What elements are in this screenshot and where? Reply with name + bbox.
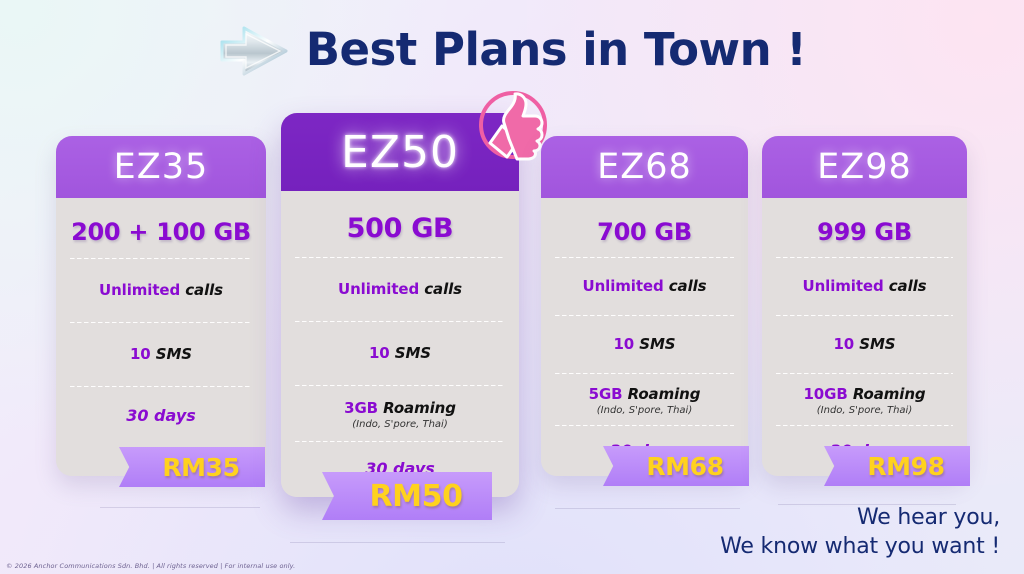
plan-sms: 10 SMS	[833, 335, 895, 353]
plan-calls-label: calls	[669, 277, 707, 295]
divider-dots	[555, 425, 734, 426]
plan-card-ez98[interactable]: EZ98 999 GB Unlimited calls 10 SMS 10GB …	[762, 136, 967, 476]
footer-copyright: © 2026 Anchor Communications Sdn. Bhd. |…	[6, 562, 295, 570]
plan-name: EZ98	[817, 147, 912, 187]
divider-dots	[295, 441, 505, 442]
plan-roaming: 10GB Roaming	[803, 385, 925, 403]
plan-sms: 10 SMS	[369, 344, 431, 362]
plan-sms-label: SMS	[859, 335, 895, 353]
divider-dots	[776, 373, 953, 374]
plan-calls-value: Unlimited	[803, 277, 884, 295]
tagline-line-2: We know what you want !	[560, 532, 1000, 561]
plan-validity: 30 days	[126, 406, 196, 425]
divider-rule	[100, 507, 260, 508]
plan-calls-label: calls	[185, 281, 223, 299]
plan-calls-value: Unlimited	[99, 281, 180, 299]
plan-calls-value: Unlimited	[338, 280, 419, 298]
plan-roaming-value: 5GB	[589, 385, 623, 403]
price-ribbon-ez35[interactable]: RM35	[119, 447, 265, 487]
plan-header: EZ35	[56, 136, 266, 198]
plan-calls: Unlimited calls	[338, 280, 462, 298]
plan-roaming-note: (Indo, S'pore, Thai)	[295, 419, 505, 430]
divider-rule	[290, 542, 505, 543]
plan-sms: 10 SMS	[130, 345, 192, 363]
plan-data-allowance: 500 GB	[347, 213, 454, 244]
plan-roaming-label: Roaming	[628, 385, 701, 403]
plan-calls-label: calls	[424, 280, 462, 298]
plan-roaming-value: 10GB	[803, 385, 847, 403]
price-ribbon-ez98[interactable]: RM98	[824, 446, 970, 486]
plan-sms-value: 10	[130, 345, 151, 363]
plan-calls: Unlimited calls	[803, 277, 927, 295]
plan-price: RM35	[144, 453, 239, 482]
plan-roaming-label: Roaming	[383, 399, 456, 417]
divider-dots	[555, 315, 734, 316]
divider-dots	[70, 322, 252, 323]
plan-card-ez35[interactable]: EZ35 200 + 100 GB Unlimited calls 10 SMS…	[56, 136, 266, 476]
divider-dots	[70, 258, 252, 259]
plan-calls-value: Unlimited	[583, 277, 664, 295]
price-ribbon-ez50[interactable]: RM50	[322, 472, 492, 520]
plan-price: RM68	[628, 452, 723, 481]
plan-body: 200 + 100 GB Unlimited calls 10 SMS 30 d…	[56, 198, 266, 476]
plan-sms-value: 10	[369, 344, 390, 362]
plan-roaming-note: (Indo, S'pore, Thai)	[776, 405, 953, 416]
plan-price: RM98	[849, 452, 944, 481]
plan-header: EZ98	[762, 136, 967, 198]
plan-sms-label: SMS	[639, 335, 675, 353]
plan-calls-label: calls	[889, 277, 927, 295]
plan-sms: 10 SMS	[613, 335, 675, 353]
divider-dots	[555, 373, 734, 374]
plan-roaming-note: (Indo, S'pore, Thai)	[555, 405, 734, 416]
divider-dots	[295, 257, 505, 258]
divider-dots	[555, 257, 734, 258]
plan-card-ez68[interactable]: EZ68 700 GB Unlimited calls 10 SMS 5GB R…	[541, 136, 748, 476]
plan-calls: Unlimited calls	[99, 281, 223, 299]
divider-dots	[776, 425, 953, 426]
plan-price: RM50	[351, 479, 462, 514]
plan-body: 500 GB Unlimited calls 10 SMS 3GB Roamin…	[281, 191, 519, 497]
plan-card-ez50[interactable]: EZ50 500 GB Unlimited calls 10 SMS 3GB R…	[281, 113, 519, 497]
price-ribbon-ez68[interactable]: RM68	[603, 446, 749, 486]
page-header: Best Plans in Town !	[0, 18, 1024, 80]
plan-name: EZ35	[114, 147, 209, 187]
divider-dots	[776, 257, 953, 258]
divider-dots	[295, 385, 505, 386]
plan-name: EZ68	[597, 147, 692, 187]
plan-header: EZ68	[541, 136, 748, 198]
plan-sms-value: 10	[613, 335, 634, 353]
plan-roaming-label: Roaming	[853, 385, 926, 403]
divider-dots	[776, 315, 953, 316]
plan-sms-label: SMS	[156, 345, 192, 363]
plan-sms-label: SMS	[395, 344, 431, 362]
plan-body: 700 GB Unlimited calls 10 SMS 5GB Roamin…	[541, 198, 748, 476]
tagline: We hear you, We know what you want !	[560, 503, 1000, 561]
plan-data-allowance: 999 GB	[817, 218, 912, 246]
plan-calls: Unlimited calls	[583, 277, 707, 295]
plan-data-allowance: 200 + 100 GB	[71, 218, 251, 246]
divider-dots	[70, 386, 252, 387]
tagline-line-1: We hear you,	[857, 505, 1000, 530]
page-title: Best Plans in Town !	[306, 23, 807, 76]
plan-roaming-value: 3GB	[344, 399, 378, 417]
plan-data-allowance: 700 GB	[597, 218, 692, 246]
plan-name: EZ50	[341, 127, 459, 178]
plan-roaming: 3GB Roaming	[344, 399, 456, 417]
plan-body: 999 GB Unlimited calls 10 SMS 10GB Roami…	[762, 198, 967, 476]
plan-sms-value: 10	[833, 335, 854, 353]
divider-dots	[295, 321, 505, 322]
plan-roaming: 5GB Roaming	[589, 385, 701, 403]
metallic-arrow-right-icon	[218, 22, 290, 80]
